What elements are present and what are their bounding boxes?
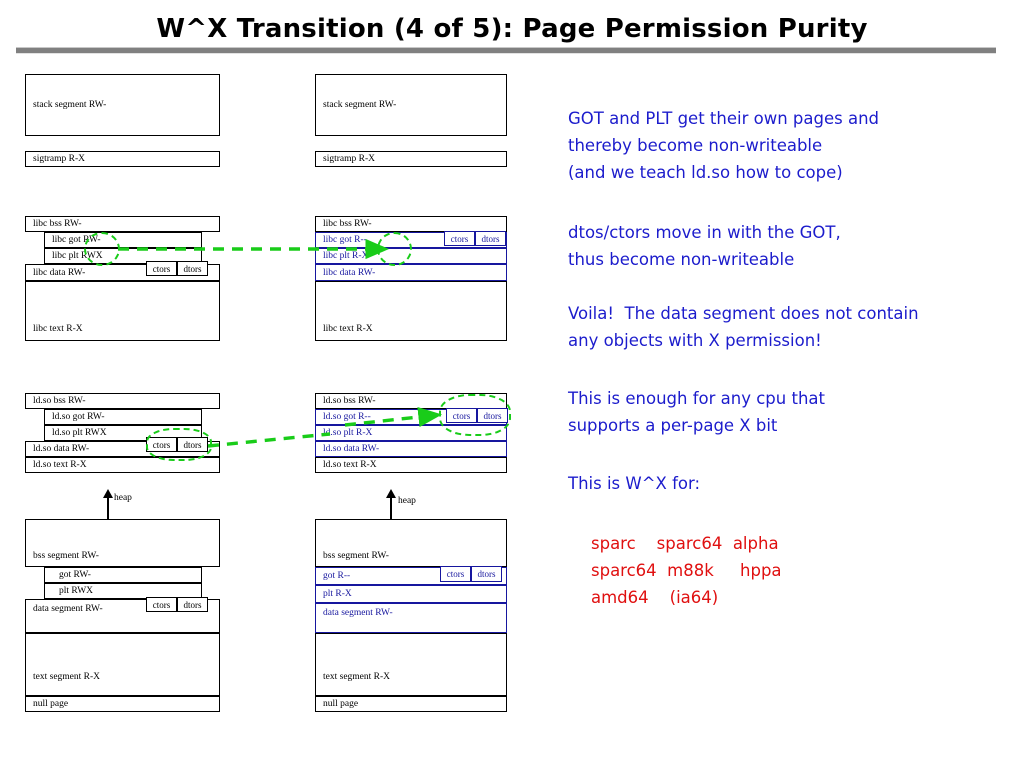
left-libc-dtors-box: dtors bbox=[177, 261, 208, 276]
right-ldso-bss: ld.so bss RW- bbox=[315, 393, 507, 409]
right-heap-arrow-shaft bbox=[390, 497, 392, 519]
right-libc-bss-label: libc bss RW- bbox=[316, 219, 372, 229]
right-libc-got-label: libc got R-- bbox=[316, 235, 367, 245]
right-libc-plt-label: libc plt R-X bbox=[316, 251, 368, 261]
right-libc-data-label: libc data RW- bbox=[316, 268, 375, 278]
left-ldso-got: ld.so got RW- bbox=[44, 409, 202, 425]
right-ldso-got-label: ld.so got R-- bbox=[316, 412, 371, 422]
right-plt-segment: plt R-X bbox=[315, 585, 507, 603]
left-heap-arrow-shaft bbox=[107, 497, 109, 519]
left-ldso-dtors-label: dtors bbox=[184, 440, 202, 450]
left-stack-label: stack segment RW- bbox=[26, 100, 106, 110]
right-null-page: null page bbox=[315, 696, 507, 712]
left-ldso-bss: ld.so bss RW- bbox=[25, 393, 220, 409]
right-sigtramp-segment: sigtramp R-X bbox=[315, 151, 507, 167]
slide-canvas: W^X Transition (4 of 5): Page Permission… bbox=[0, 0, 1024, 768]
left-libc-text: libc text R-X bbox=[25, 281, 220, 341]
left-ldso-ctors-label: ctors bbox=[153, 440, 171, 450]
left-got-label: got RW- bbox=[45, 570, 91, 580]
note-paragraph-4: This is enough for any cpu that supports… bbox=[568, 385, 825, 439]
right-ldso-ctors-box: ctors bbox=[446, 408, 477, 423]
right-ldso-dtors-label: dtors bbox=[484, 411, 502, 421]
right-libc-ctors-label: ctors bbox=[451, 234, 469, 244]
left-sigtramp-label: sigtramp R-X bbox=[26, 154, 85, 164]
left-ldso-text-label: ld.so text R-X bbox=[26, 460, 87, 470]
right-libc-dtors-box: dtors bbox=[475, 231, 506, 246]
right-libc-bss: libc bss RW- bbox=[315, 216, 507, 232]
right-libc-text-label: libc text R-X bbox=[316, 324, 373, 340]
left-libc-ctors-box: ctors bbox=[146, 261, 177, 276]
right-program-ctors-label: ctors bbox=[447, 569, 465, 579]
right-program-dtors-box: dtors bbox=[471, 566, 502, 582]
right-stack-segment: stack segment RW- bbox=[315, 74, 507, 136]
left-libc-got-label: libc got RW- bbox=[45, 235, 101, 245]
left-libc-text-label: libc text R-X bbox=[26, 324, 83, 340]
left-plt-label: plt RWX bbox=[45, 586, 93, 596]
note-paragraph-5: This is W^X for: bbox=[568, 470, 700, 497]
right-program-ctors-box: ctors bbox=[440, 566, 471, 582]
left-program-ctors-box: ctors bbox=[146, 597, 177, 612]
left-libc-got: libc got RW- bbox=[44, 232, 202, 248]
left-data-label: data segment RW- bbox=[26, 600, 103, 614]
right-sigtramp-label: sigtramp R-X bbox=[316, 154, 375, 164]
right-plt-label: plt R-X bbox=[316, 589, 352, 599]
left-null-page-label: null page bbox=[26, 699, 68, 709]
right-libc-plt: libc plt R-X bbox=[315, 248, 507, 264]
right-text-label: text segment R-X bbox=[316, 672, 390, 695]
right-program-dtors-label: dtors bbox=[478, 569, 496, 579]
right-text-segment: text segment R-X bbox=[315, 633, 507, 696]
note-paragraph-3: Voila! The data segment does not contain… bbox=[568, 300, 919, 354]
left-ldso-got-label: ld.so got RW- bbox=[45, 412, 105, 422]
right-ldso-ctors-label: ctors bbox=[453, 411, 471, 421]
arch-list-row-3: amd64 (ia64) bbox=[591, 584, 718, 611]
left-null-page: null page bbox=[25, 696, 220, 712]
right-heap-label: heap bbox=[398, 496, 416, 506]
left-ldso-ctors-box: ctors bbox=[146, 437, 177, 452]
right-ldso-text-label: ld.so text R-X bbox=[316, 460, 377, 470]
title-divider bbox=[16, 47, 996, 54]
right-ldso-data: ld.so data RW- bbox=[315, 441, 507, 457]
right-ldso-bss-label: ld.so bss RW- bbox=[316, 396, 376, 406]
left-bss-label: bss segment RW- bbox=[26, 551, 99, 566]
right-ldso-text: ld.so text R-X bbox=[315, 457, 507, 473]
right-ldso-dtors-box: dtors bbox=[477, 408, 508, 423]
right-stack-label: stack segment RW- bbox=[316, 100, 396, 110]
right-ldso-plt: ld.so plt R-X bbox=[315, 425, 507, 441]
left-program-dtors-label: dtors bbox=[184, 600, 202, 610]
arch-list-row-1: sparc sparc64 alpha bbox=[591, 530, 779, 557]
left-program-dtors-box: dtors bbox=[177, 597, 208, 612]
right-null-page-label: null page bbox=[316, 699, 358, 709]
right-bss-segment: bss segment RW- bbox=[315, 519, 507, 567]
left-heap-label: heap bbox=[114, 493, 132, 503]
left-libc-data-label: libc data RW- bbox=[26, 268, 85, 278]
left-bss-segment: bss segment RW- bbox=[25, 519, 220, 567]
left-program-ctors-label: ctors bbox=[153, 600, 171, 610]
left-ldso-bss-label: ld.so bss RW- bbox=[26, 396, 86, 406]
right-ldso-plt-label: ld.so plt R-X bbox=[316, 428, 372, 438]
left-libc-bss-label: libc bss RW- bbox=[26, 219, 82, 229]
left-libc-plt-label: libc plt RWX bbox=[45, 251, 103, 261]
ldso-ctors-transition-line bbox=[208, 434, 330, 446]
left-ldso-dtors-box: dtors bbox=[177, 437, 208, 452]
left-libc-bss: libc bss RW- bbox=[25, 216, 220, 232]
left-libc-dtors-label: dtors bbox=[184, 264, 202, 274]
right-libc-dtors-label: dtors bbox=[482, 234, 500, 244]
right-bss-label: bss segment RW- bbox=[316, 551, 389, 566]
right-got-label: got R-- bbox=[316, 571, 350, 581]
arch-list-row-2: sparc64 m88k hppa bbox=[591, 557, 782, 584]
left-text-label: text segment R-X bbox=[26, 672, 100, 695]
left-ldso-text: ld.so text R-X bbox=[25, 457, 220, 473]
page-title: W^X Transition (4 of 5): Page Permission… bbox=[0, 14, 1024, 44]
right-ldso-data-label: ld.so data RW- bbox=[316, 444, 379, 454]
right-data-label: data segment RW- bbox=[316, 604, 393, 618]
left-sigtramp-segment: sigtramp R-X bbox=[25, 151, 220, 167]
note-paragraph-2: dtos/ctors move in with the GOT, thus be… bbox=[568, 219, 841, 273]
right-libc-text: libc text R-X bbox=[315, 281, 507, 341]
right-data-segment: data segment RW- bbox=[315, 603, 507, 633]
right-libc-ctors-box: ctors bbox=[444, 231, 475, 246]
left-libc-ctors-label: ctors bbox=[153, 264, 171, 274]
left-stack-segment: stack segment RW- bbox=[25, 74, 220, 136]
right-libc-data: libc data RW- bbox=[315, 264, 507, 281]
left-got-segment: got RW- bbox=[44, 567, 202, 583]
left-ldso-data-label: ld.so data RW- bbox=[26, 444, 89, 454]
note-paragraph-1: GOT and PLT get their own pages and ther… bbox=[568, 105, 879, 186]
left-text-segment: text segment R-X bbox=[25, 633, 220, 696]
left-ldso-plt-label: ld.so plt RWX bbox=[45, 428, 107, 438]
